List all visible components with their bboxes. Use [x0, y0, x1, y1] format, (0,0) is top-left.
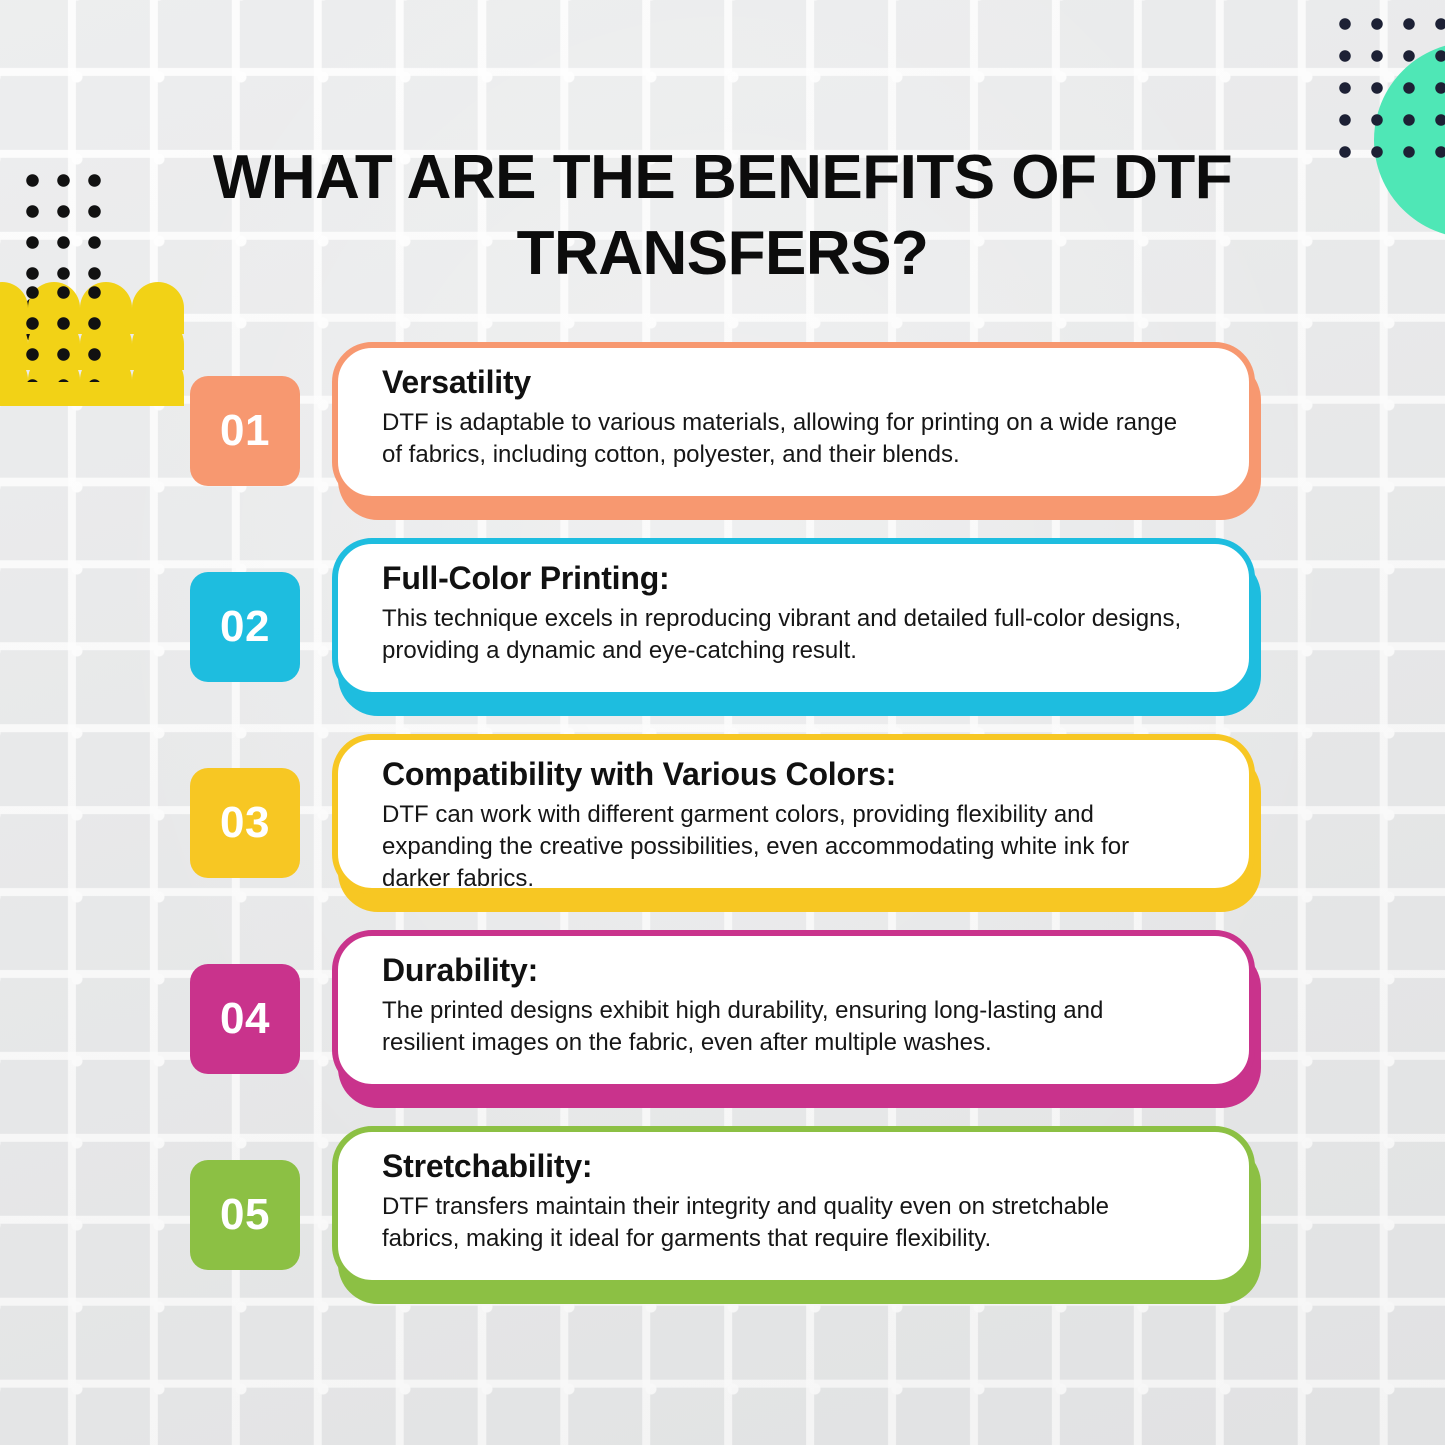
benefit-card-05: Stretchability: DTF transfers maintain t… [332, 1126, 1255, 1298]
card-body-01: Versatility DTF is adaptable to various … [332, 342, 1255, 502]
top-right-dot-grid-decoration [1325, 4, 1445, 176]
list-item: 03 Compatibility with Various Colors: DT… [0, 730, 1445, 926]
infographic-canvas: WHAT ARE THE BENEFITS OF DTF TRANSFERS? … [0, 0, 1445, 1445]
card-number-badge-03: 03 [190, 768, 300, 878]
list-item: 02 Full-Color Printing: This technique e… [0, 534, 1445, 730]
card-number-badge-05: 05 [190, 1160, 300, 1270]
benefit-card-02: Full-Color Printing: This technique exce… [332, 538, 1255, 710]
card-text-02: This technique excels in reproducing vib… [382, 603, 1192, 667]
page-title: WHAT ARE THE BENEFITS OF DTF TRANSFERS? [180, 140, 1265, 292]
list-item: 05 Stretchability: DTF transfers maintai… [0, 1122, 1445, 1318]
card-heading-03: Compatibility with Various Colors: [382, 754, 1215, 794]
card-heading-04: Durability: [382, 950, 1215, 990]
card-number-badge-01: 01 [190, 376, 300, 486]
card-number-badge-04: 04 [190, 964, 300, 1074]
list-item: 01 Versatility DTF is adaptable to vario… [0, 338, 1445, 534]
card-body-03: Compatibility with Various Colors: DTF c… [332, 734, 1255, 894]
card-text-04: The printed designs exhibit high durabil… [382, 995, 1192, 1059]
card-heading-01: Versatility [382, 362, 1215, 402]
card-heading-05: Stretchability: [382, 1146, 1215, 1186]
card-body-02: Full-Color Printing: This technique exce… [332, 538, 1255, 698]
card-number-badge-02: 02 [190, 572, 300, 682]
card-body-04: Durability: The printed designs exhibit … [332, 930, 1255, 1090]
card-text-05: DTF transfers maintain their integrity a… [382, 1191, 1192, 1255]
card-text-03: DTF can work with different garment colo… [382, 799, 1192, 895]
benefit-card-04: Durability: The printed designs exhibit … [332, 930, 1255, 1102]
card-body-05: Stretchability: DTF transfers maintain t… [332, 1126, 1255, 1286]
benefit-card-01: Versatility DTF is adaptable to various … [332, 342, 1255, 514]
card-text-01: DTF is adaptable to various materials, a… [382, 407, 1192, 471]
benefit-card-03: Compatibility with Various Colors: DTF c… [332, 734, 1255, 906]
card-heading-02: Full-Color Printing: [382, 558, 1215, 598]
list-item: 04 Durability: The printed designs exhib… [0, 926, 1445, 1122]
benefits-list: 01 Versatility DTF is adaptable to vario… [0, 338, 1445, 1318]
